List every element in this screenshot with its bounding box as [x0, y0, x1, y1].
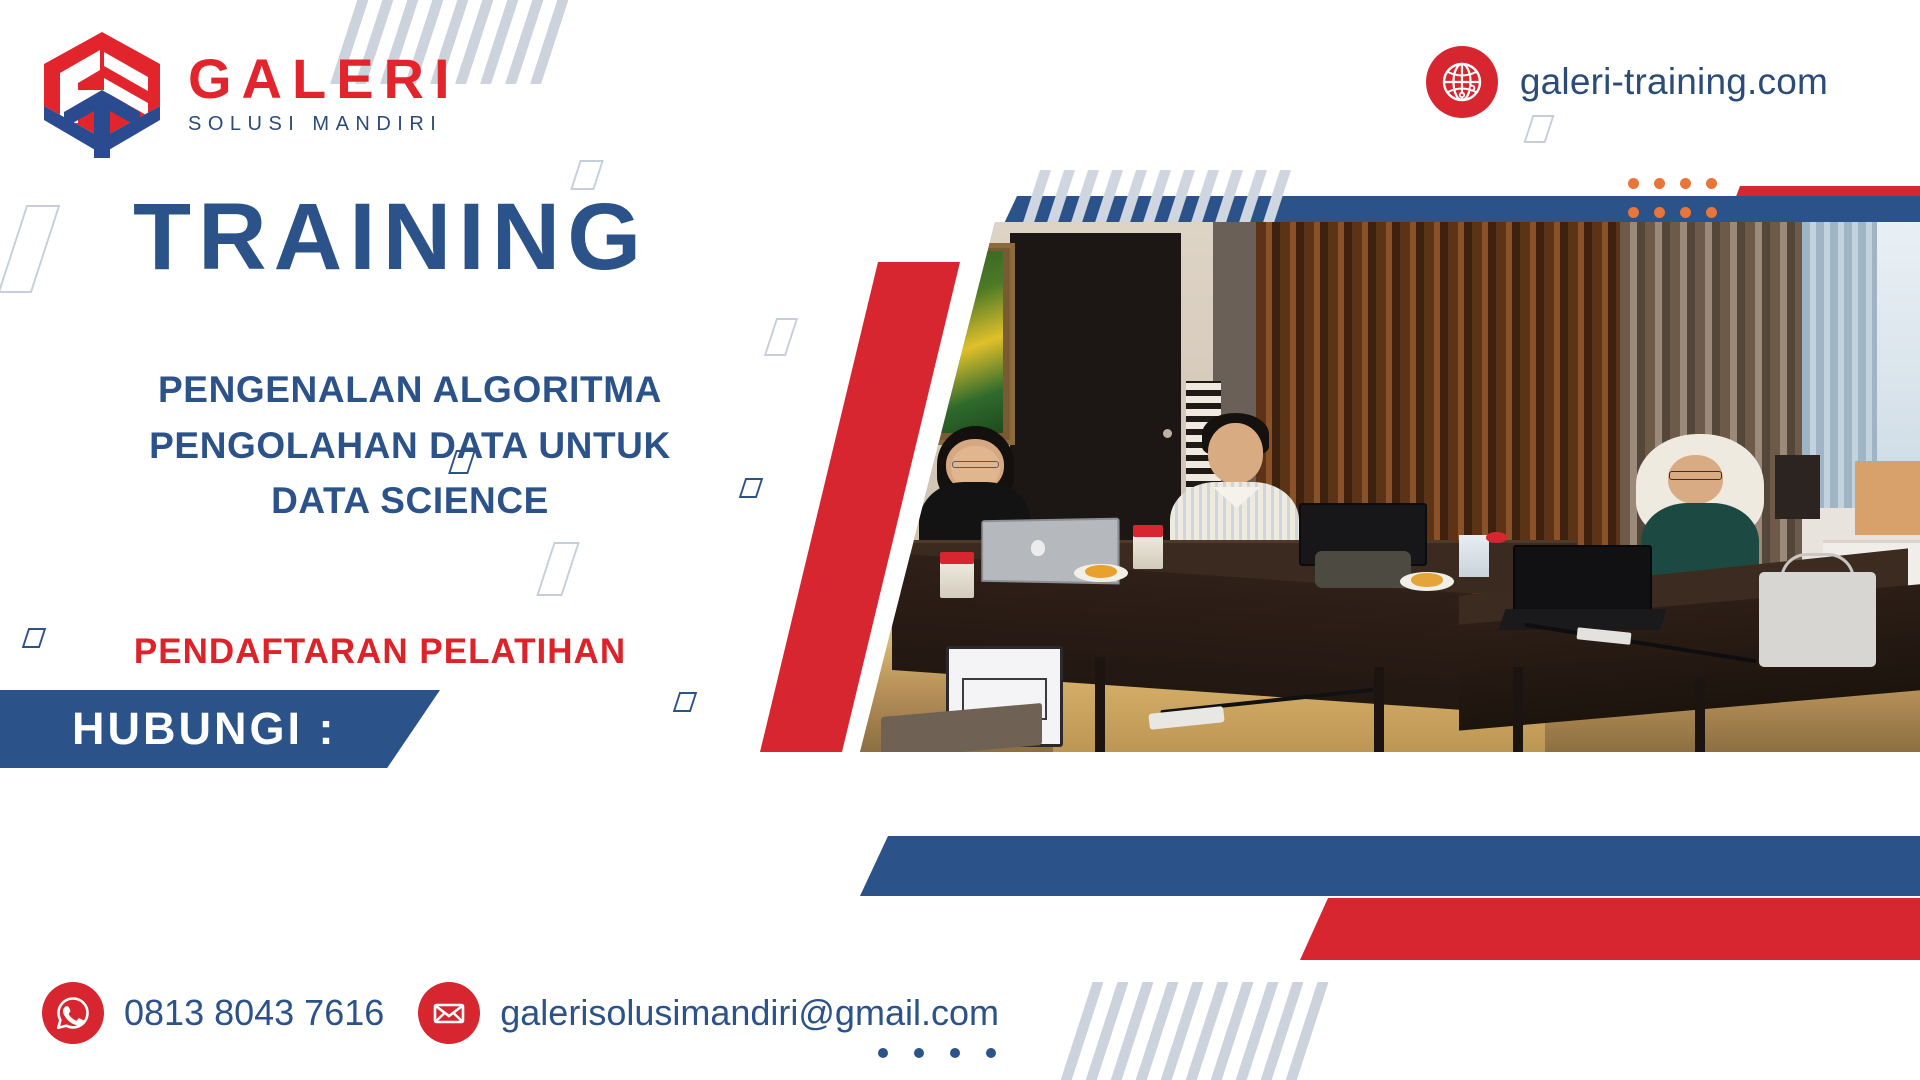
poster-canvas: GALERI SOLUSI MANDIRI galeri-training.co… — [0, 0, 1920, 1080]
brand-tagline: SOLUSI MANDIRI — [188, 113, 460, 136]
training-photo-block — [760, 222, 1920, 752]
whatsapp-icon — [42, 982, 104, 1044]
blue-band-bottom-right — [860, 836, 1920, 896]
course-subtitle-line-3: DATA SCIENCE — [60, 473, 760, 529]
course-subtitle: PENGENALAN ALGORITMA PENGOLAHAN DATA UNT… — [60, 362, 760, 529]
contact-row: 0813 8043 7616 galerisolusimandiri@gmail… — [42, 982, 999, 1044]
parallelogram-accent-6 — [536, 542, 580, 596]
parallelogram-accent-8 — [673, 692, 697, 712]
brand-wordmark: GALERI SOLUSI MANDIRI — [188, 51, 460, 136]
website-link[interactable]: galeri-training.com — [1426, 46, 1828, 118]
red-band-bottom-right — [1300, 898, 1920, 960]
brand-name: GALERI — [188, 51, 460, 107]
brand-logo[interactable]: GALERI SOLUSI MANDIRI — [38, 28, 460, 158]
email-icon — [418, 982, 480, 1044]
photo-illustration — [860, 222, 1920, 752]
contact-email[interactable]: galerisolusimandiri@gmail.com — [418, 982, 999, 1044]
training-photo — [860, 222, 1920, 752]
phone-number: 0813 8043 7616 — [124, 992, 384, 1034]
parallelogram-accent-1 — [0, 205, 60, 293]
globe-icon — [1426, 46, 1498, 118]
gs-hexagon-logo-icon — [38, 28, 166, 158]
contact-banner-label: HUBUNGI : — [0, 703, 336, 755]
course-subtitle-line-1: PENGENALAN ALGORITMA — [60, 362, 760, 418]
registration-label: PENDAFTARAN PELATIHAN — [60, 632, 700, 672]
contact-banner: HUBUNGI : — [0, 690, 440, 768]
footer-dot-decoration — [878, 1048, 996, 1058]
parallelogram-accent-9 — [1523, 115, 1554, 143]
diagonal-stripes-bottom — [1075, 982, 1311, 1080]
email-address: galerisolusimandiri@gmail.com — [500, 992, 999, 1034]
course-subtitle-line-2: PENGOLAHAN DATA UNTUK — [60, 418, 760, 474]
contact-whatsapp[interactable]: 0813 8043 7616 — [42, 982, 384, 1044]
website-url-text: galeri-training.com — [1520, 61, 1828, 103]
parallelogram-accent-7 — [22, 628, 46, 648]
page-title: TRAINING — [133, 190, 648, 285]
